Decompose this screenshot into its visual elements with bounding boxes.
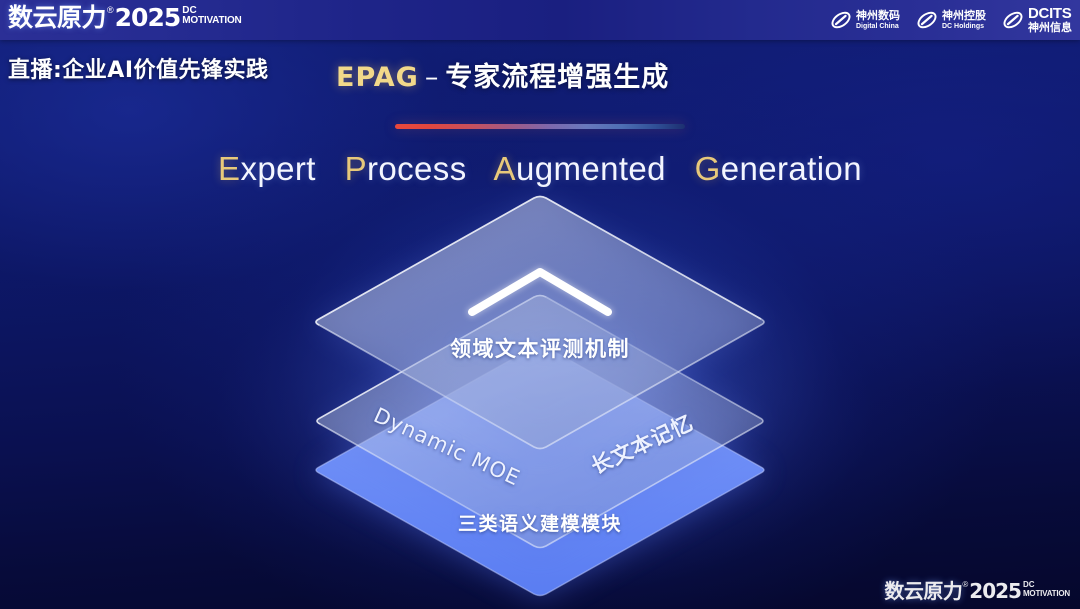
subtitle-word-rest: ugmented [516, 150, 666, 187]
partner-name-en: Digital China [856, 22, 900, 31]
page-title: EPAG–专家流程增强生成 [336, 55, 669, 94]
header-band: 数云原力 ® 2025 DC MOTIVATION 神州数码 Digital C… [0, 0, 1080, 40]
subtitle-word-rest: rocess [367, 150, 467, 187]
title-dash: – [425, 62, 440, 93]
brand-dc-label: DC [182, 6, 241, 15]
chevron-up-icon [472, 272, 608, 312]
partner-name-en: DC Holdings [942, 22, 986, 31]
stack-layer-bottom [313, 346, 767, 601]
partner-name-cn: 神州数码 [856, 10, 900, 22]
subtitle-word-rest: eneration [721, 150, 862, 187]
page-subtitle: Expert Process Augmented Generation [0, 150, 1080, 188]
swirl-logo-icon [1002, 9, 1024, 31]
subtitle-space [476, 150, 486, 187]
subtitle-word-generation: Generation [695, 150, 862, 187]
title-chinese: 专家流程增强生成 [445, 62, 669, 93]
partner-logo-text: 神州数码 Digital China [856, 10, 900, 31]
subtitle-word-process: Process [345, 150, 467, 187]
brand-motivation-label: MOTIVATION [182, 15, 241, 26]
subtitle-word-rest: xpert [240, 150, 315, 187]
subtitle-initial: E [218, 150, 240, 187]
subtitle-initial: G [695, 150, 721, 187]
watermark-year: 2025 [969, 579, 1021, 603]
partner-logo-text: 神州控股 DC Holdings [942, 10, 986, 31]
partner-logo-dc-holdings: 神州控股 DC Holdings [916, 9, 986, 31]
swirl-logo-icon [830, 9, 852, 31]
watermark-registered-mark: ® [962, 579, 968, 591]
partner-logo-group: 神州数码 Digital China 神州控股 DC Holdings [830, 4, 1072, 36]
swirl-logo-icon [916, 9, 938, 31]
watermark-sub-lockup: DC MOTIVATION [1023, 581, 1070, 598]
partner-logo-text: DCITS 神州信息 [1028, 6, 1072, 34]
subtitle-space [676, 150, 686, 187]
footer-watermark: 数云原力 ® 2025 DC MOTIVATION [884, 579, 1070, 603]
partner-name-cn: 神州控股 [942, 10, 986, 22]
stack-layer-top [315, 197, 765, 454]
layer-label-top: 领域文本评测机制 [0, 333, 1080, 363]
watermark-dc-label: DC [1023, 581, 1070, 589]
stack-ambient-glow [215, 225, 875, 595]
brand-year: 2025 [115, 3, 181, 33]
subtitle-word-augmented: Augmented [494, 150, 666, 187]
subtitle-initial: P [345, 150, 367, 187]
layer-label-middle-right: 长文本记忆 [586, 407, 698, 481]
live-stream-label: 直播:企业AI价值先锋实践 [8, 52, 269, 84]
subtitle-initial: A [494, 150, 516, 187]
brand-logo: 数云原力 ® 2025 DC MOTIVATION [8, 3, 242, 37]
brand-sub-lockup: DC MOTIVATION [182, 6, 241, 26]
partner-logo-digital-china: 神州数码 Digital China [830, 9, 900, 31]
gradient-divider [395, 124, 685, 129]
partner-logo-dcits: DCITS 神州信息 [1002, 6, 1072, 34]
brand-name-cn: 数云原力 [8, 3, 106, 33]
layer-label-bottom: 三类语义建模模块 [0, 509, 1080, 536]
watermark-motivation-label: MOTIVATION [1023, 589, 1070, 598]
subtitle-word-expert: Expert [218, 150, 316, 187]
registered-mark: ® [107, 3, 114, 17]
partner-name-cn: 神州信息 [1028, 22, 1072, 34]
slide-canvas: 数云原力 ® 2025 DC MOTIVATION 神州数码 Digital C… [0, 0, 1080, 609]
title-acronym: EPAG [336, 62, 419, 93]
watermark-name-cn: 数云原力 [884, 579, 962, 603]
subtitle-space [325, 150, 335, 187]
partner-name-en: DCITS [1028, 6, 1072, 22]
layer-label-middle-left: Dynamic MOE [370, 403, 524, 490]
stack-layer-middle [316, 296, 764, 553]
